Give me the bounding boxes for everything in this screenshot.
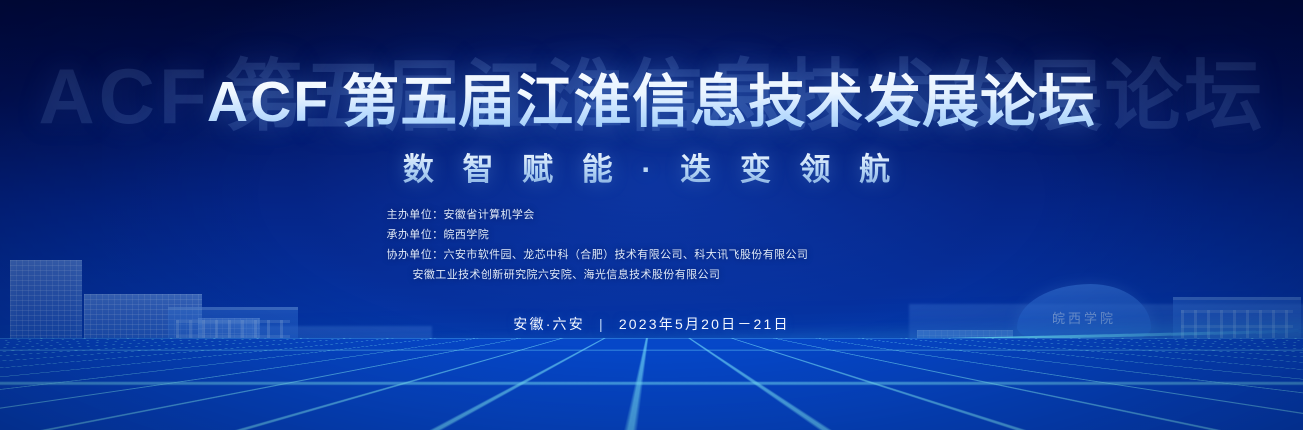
- event-location: 安徽·六安: [513, 316, 585, 332]
- organizer-host: 主办单位：安徽省计算机学会: [387, 205, 917, 225]
- organizer-coorganizers: 协办单位：六安市软件园、龙芯中科（合肥）技术有限公司、科大讯飞股份有限公司: [387, 245, 917, 265]
- organizer-list: 主办单位：安徽省计算机学会 承办单位：皖西学院 协办单位：六安市软件园、龙芯中科…: [0, 205, 1303, 285]
- banner-subtitle: 数 智 赋 能 · 迭 变 领 航: [0, 144, 1303, 189]
- event-meta: 安徽·六安|2023年5月20日－21日: [0, 314, 1303, 334]
- organizer-coorganizers-cont: 安徽工业技术创新研究院六安院、海光信息技术股份有限公司: [361, 265, 943, 285]
- title-acf-logo: ACF: [207, 70, 330, 134]
- event-dates: 2023年5月20日－21日: [619, 316, 790, 332]
- organizer-undertaker: 承办单位：皖西学院: [387, 225, 917, 245]
- banner-content: ACF第五届江淮信息技术发展论坛 数 智 赋 能 · 迭 变 领 航 主办单位：…: [0, 0, 1303, 430]
- page-title: ACF第五届江淮信息技术发展论坛: [0, 56, 1303, 138]
- meta-separator: |: [599, 316, 605, 332]
- conference-banner: ACF第五届江淮信息技术发展论坛 皖西学院: [0, 0, 1303, 430]
- title-chinese: 第五届江淮信息技术发展论坛: [342, 70, 1096, 134]
